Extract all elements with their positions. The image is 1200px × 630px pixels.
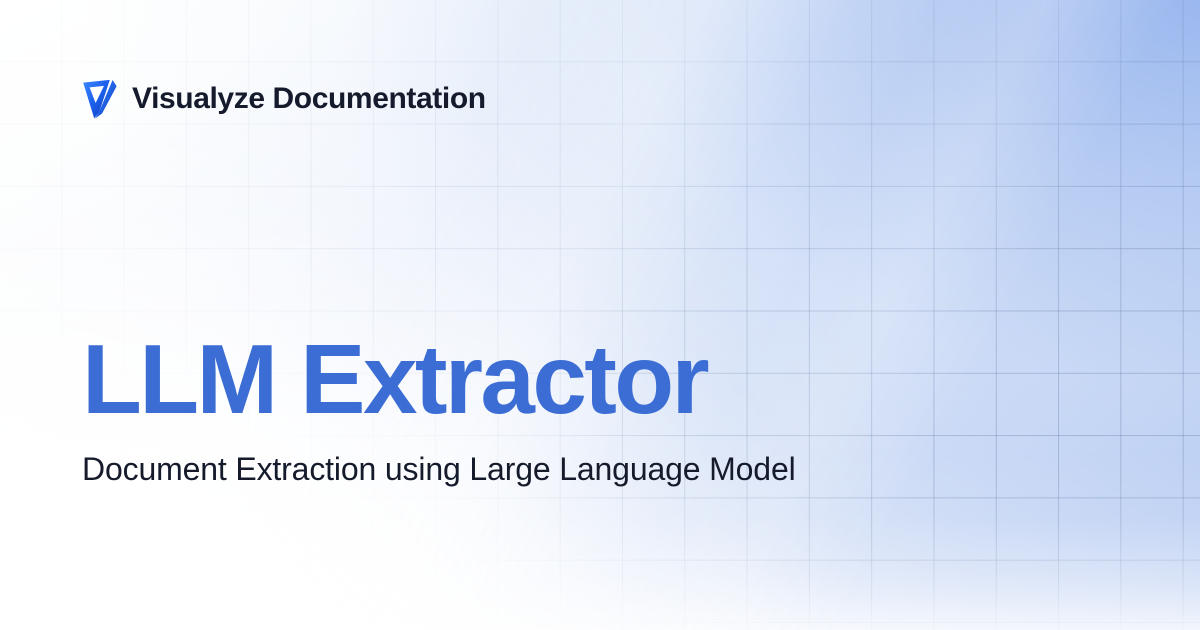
brand-header: Visualyze Documentation — [82, 79, 486, 119]
page-subtitle: Document Extraction using Large Language… — [82, 448, 842, 491]
card-content: Visualyze Documentation LLM Extractor Do… — [0, 0, 1200, 630]
brand-name-label: Visualyze Documentation — [132, 84, 486, 114]
page-title: LLM Extractor — [82, 330, 882, 430]
hero-section: LLM Extractor Document Extraction using … — [82, 330, 882, 491]
og-card: Visualyze Documentation LLM Extractor Do… — [0, 0, 1200, 630]
visualyze-v-logo-icon — [82, 79, 118, 119]
